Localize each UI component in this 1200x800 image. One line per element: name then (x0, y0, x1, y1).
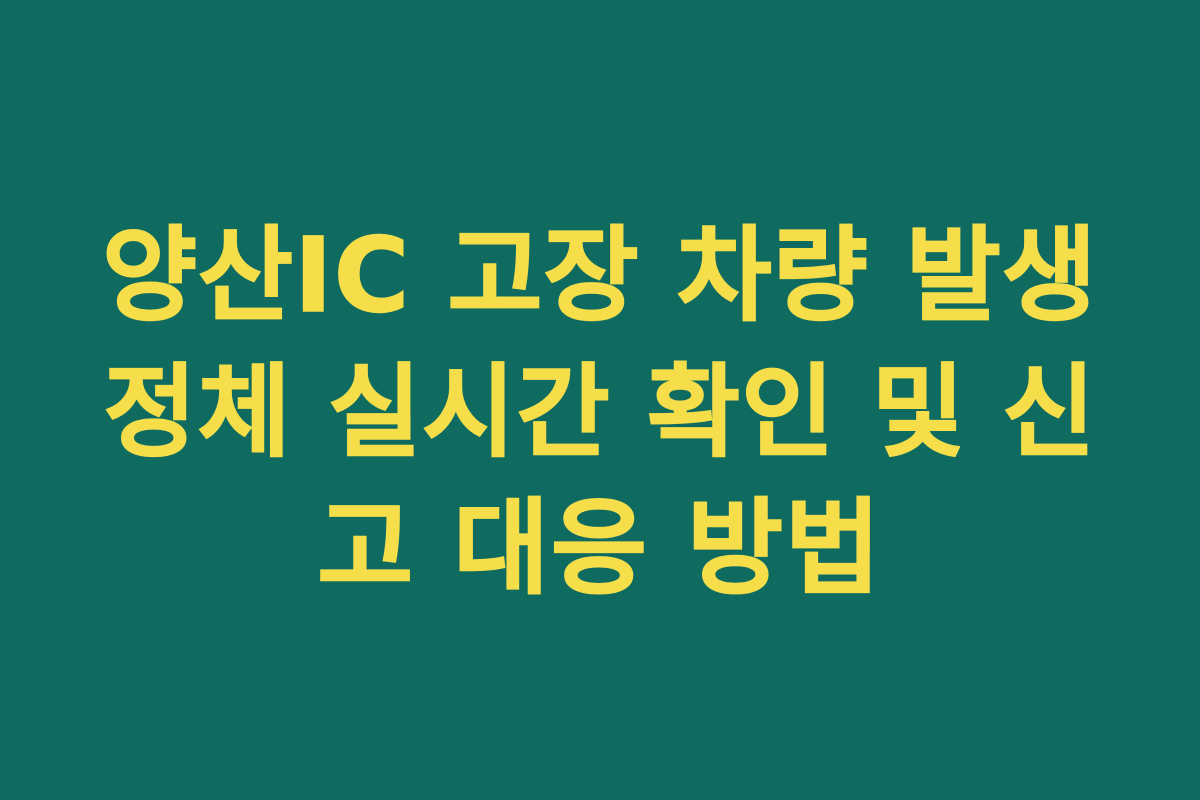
headline-line-1: 양산IC 고장 차량 발생 (100, 208, 1100, 344)
headline-line-2: 정체 실시간 확인 및 신 (100, 344, 1100, 480)
headline-line-3: 고 대응 방법 (100, 480, 1100, 616)
thumbnail-card: 양산IC 고장 차량 발생 정체 실시간 확인 및 신 고 대응 방법 (0, 0, 1200, 800)
headline-block: 양산IC 고장 차량 발생 정체 실시간 확인 및 신 고 대응 방법 (100, 208, 1100, 616)
